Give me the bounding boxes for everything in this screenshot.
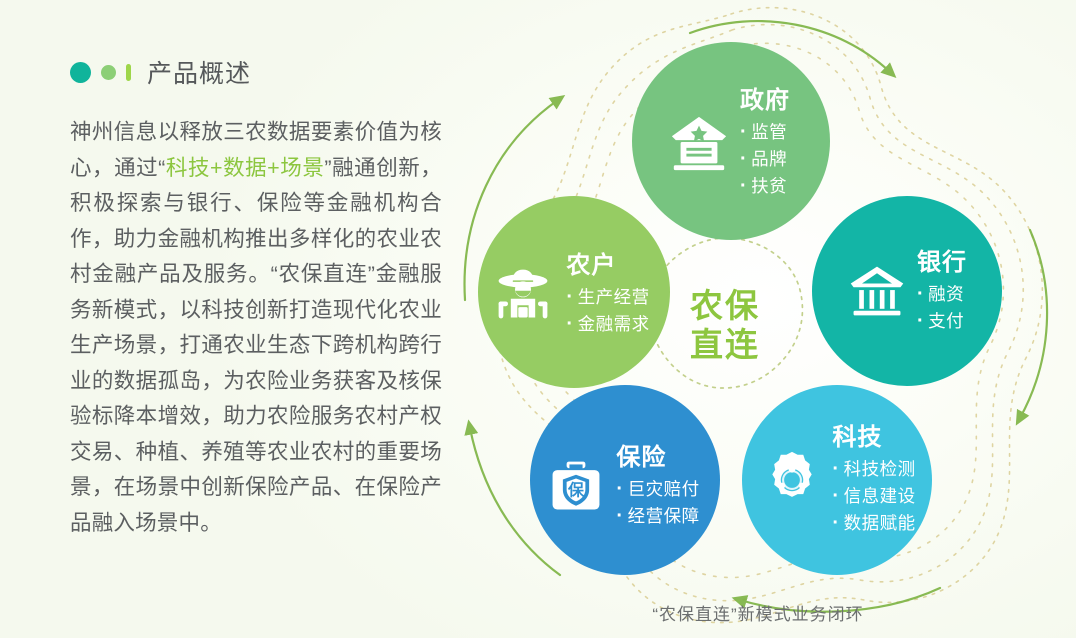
overview-section: 产品概述 神州信息以释放三农数据要素价值为核心，通过“科技+数据+场景”融通创新…: [70, 52, 442, 541]
overview-paragraph: 神州信息以释放三农数据要素价值为核心，通过“科技+数据+场景”融通创新，积极探索…: [70, 115, 442, 541]
bank-columns-icon: [847, 261, 907, 321]
decorative-circle-large-icon: [70, 62, 91, 83]
node-item: 监管: [740, 119, 790, 146]
paragraph-highlight: 科技+数据+场景: [166, 156, 325, 180]
node-item: 数据赋能: [832, 510, 915, 537]
node-farmer[interactable]: 农户 生产经营 金融需求: [478, 196, 670, 388]
node-government[interactable]: 政府 监管 品牌 扶贫: [632, 42, 830, 240]
briefcase-shield-icon: 保: [546, 456, 606, 516]
node-item: 巨灾赔付: [616, 476, 699, 503]
node-title: 政府: [740, 86, 790, 116]
slide-canvas: 产品概述 神州信息以释放三农数据要素价值为核心，通过“科技+数据+场景”融通创新…: [0, 0, 1076, 638]
farmer-hat-icon: [490, 264, 556, 324]
node-item: 金融需求: [566, 311, 649, 338]
node-title: 农户: [566, 251, 649, 281]
paragraph-part-two: ”融通创新，积极探索与银行、保险等金融机构合作，助力金融机构推出多样化的农业农村…: [70, 156, 442, 535]
node-item: 支付: [917, 308, 967, 335]
page-title: 产品概述: [147, 54, 251, 90]
section-heading: 产品概述: [70, 52, 442, 92]
gear-icon: [762, 450, 822, 510]
decorative-circle-small-icon: [101, 65, 116, 80]
center-label: 农保 直连: [690, 286, 760, 364]
government-building-icon: [668, 112, 730, 174]
node-item: 经营保障: [616, 503, 699, 530]
business-loop-diagram: 政府 监管 品牌 扶贫 银行: [440, 0, 1076, 638]
diagram-center-hub: 农保 直连: [645, 250, 805, 400]
node-title: 科技: [832, 423, 915, 453]
node-item: 信息建设: [832, 483, 915, 510]
node-title: 银行: [917, 248, 967, 278]
node-item: 科技检测: [832, 456, 915, 483]
svg-text:保: 保: [567, 480, 585, 499]
node-item: 融资: [917, 281, 967, 308]
node-item: 品牌: [740, 146, 790, 173]
node-bank[interactable]: 银行 融资 支付: [812, 196, 1002, 386]
node-item: 扶贫: [740, 173, 790, 200]
node-insurance[interactable]: 保 保险 巨灾赔付 经营保障: [530, 385, 720, 575]
node-title: 保险: [616, 443, 699, 473]
decorative-bar-icon: [126, 64, 131, 81]
node-technology[interactable]: 科技 科技检测 信息建设 数据赋能: [742, 385, 932, 575]
node-item: 生产经营: [566, 284, 649, 311]
diagram-caption: “农保直连”新模式业务闭环: [440, 600, 1076, 625]
